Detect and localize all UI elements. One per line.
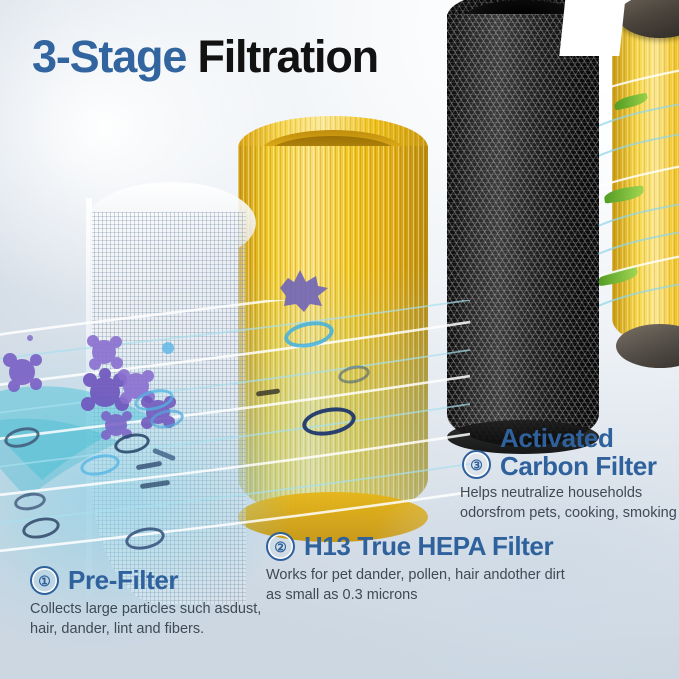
- stage-3-heading: ③ Activated Carbon Filter: [462, 424, 677, 480]
- stage-2-heading: ② H13 True HEPA Filter: [266, 532, 565, 561]
- stage-number-badge-3: ③: [462, 450, 491, 479]
- stage-3-title-line2: Carbon Filter: [500, 451, 657, 481]
- stage-1-body-line2: hair, dander, lint and fibers.: [30, 620, 261, 640]
- stage-caption-carbon: ③ Activated Carbon Filter Helps neutrali…: [462, 424, 677, 523]
- stage-3-body-line1: Helps neutralize households: [460, 484, 677, 504]
- infographic-canvas: 3-Stage Filtration ③ Activated Carbon Fi…: [0, 0, 679, 679]
- stage-1-heading: ① Pre-Filter: [30, 566, 261, 595]
- stage-1-title: Pre-Filter: [68, 566, 178, 594]
- stage-number-badge-1: ①: [30, 566, 59, 595]
- stage-3-body: Helps neutralize households odorsfrom pe…: [460, 484, 677, 523]
- stage-2-body-line2: as small as 0.3 microns: [266, 586, 565, 606]
- page-title-accent: 3-Stage: [32, 31, 186, 82]
- outlet-airflow-streamlines: [596, 30, 679, 340]
- stage-2-title: H13 True HEPA Filter: [304, 532, 553, 560]
- carbon-cut-notch: [559, 0, 626, 56]
- stage-caption-hepa: ② H13 True HEPA Filter Works for pet dan…: [266, 532, 565, 605]
- virus-particle: [272, 266, 332, 314]
- stage-number-badge-2: ②: [266, 532, 295, 561]
- page-title-main: Filtration: [186, 31, 378, 82]
- stage-1-body: Collects large particles such asdust, ha…: [30, 600, 261, 639]
- stage-2-body-line1: Works for pet dander, pollen, hair andot…: [266, 566, 565, 586]
- page-title: 3-Stage Filtration: [32, 34, 378, 79]
- particle-cluster-purple: [0, 330, 250, 520]
- stage-3-title-line1: Activated: [500, 423, 613, 453]
- stage-1-body-line1: Collects large particles such asdust,: [30, 600, 261, 620]
- stage-2-body: Works for pet dander, pollen, hair andot…: [266, 566, 565, 605]
- stage-3-title: Activated Carbon Filter: [500, 424, 657, 480]
- stage-caption-prefilter: ① Pre-Filter Collects large particles su…: [30, 566, 261, 639]
- stage-3-body-line2: odorsfrom pets, cooking, smoking: [460, 504, 677, 524]
